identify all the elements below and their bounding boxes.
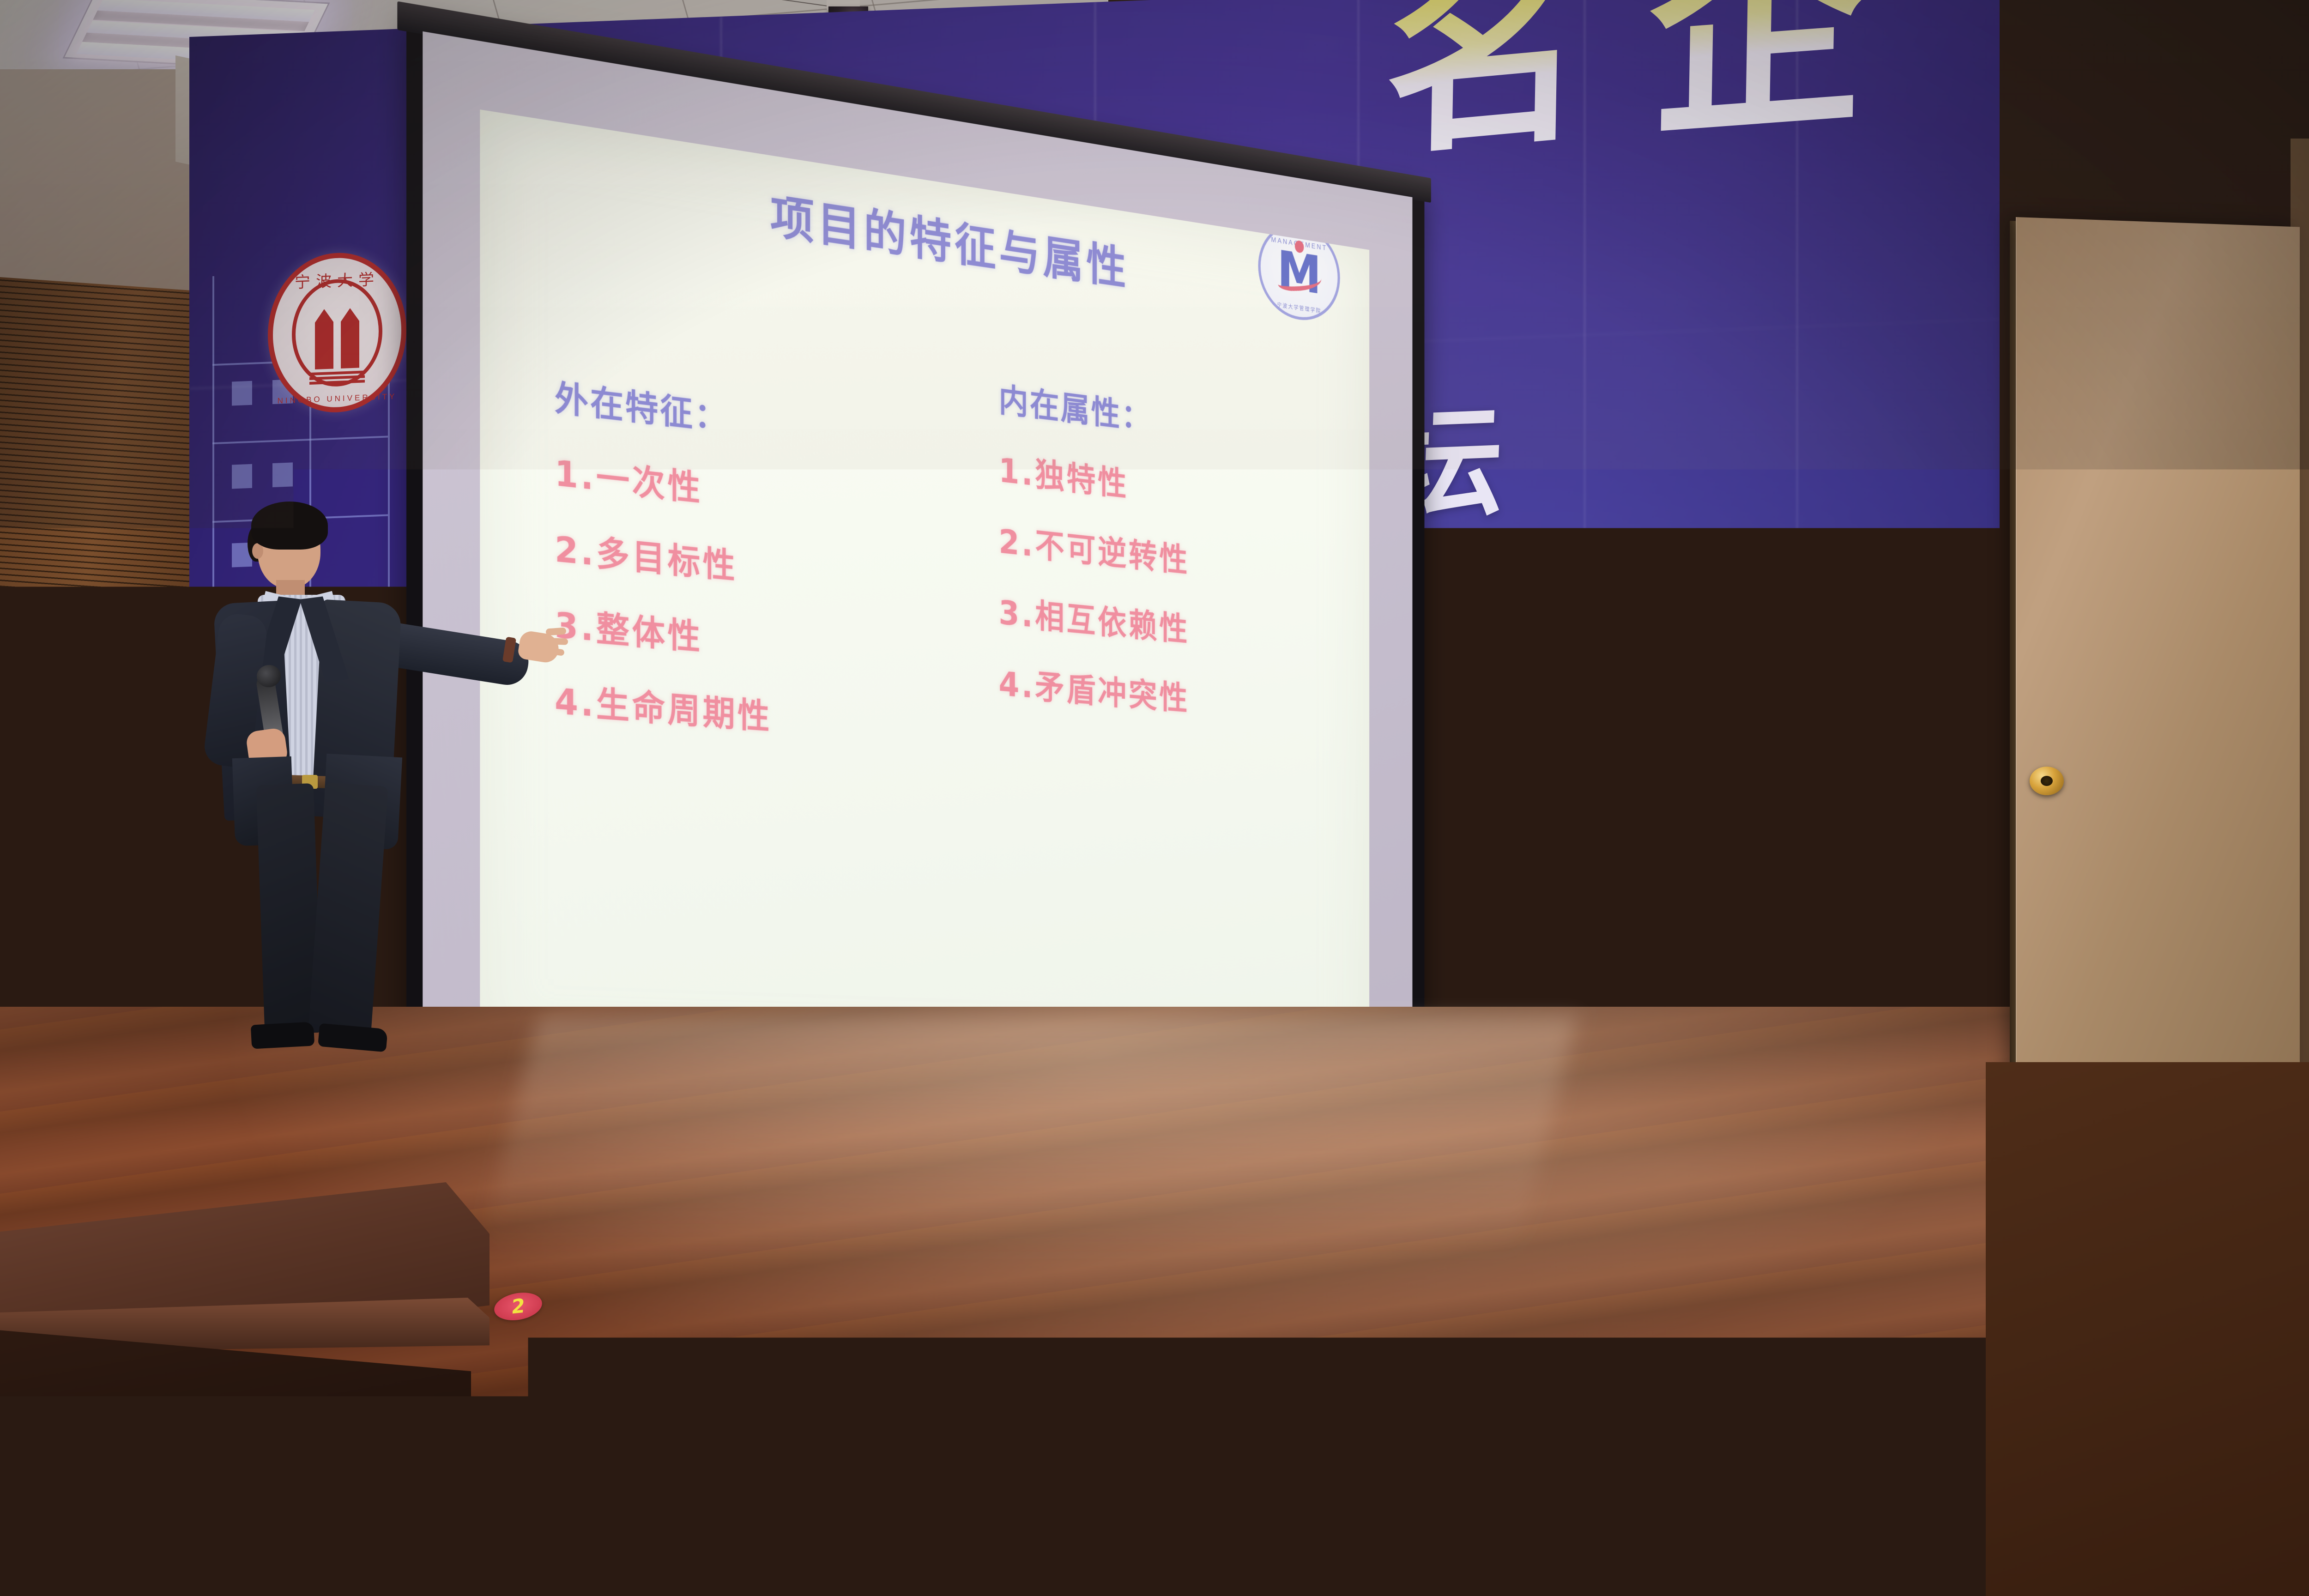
lectern-body	[0, 765, 50, 1046]
foreground-seat-block	[1616, 1533, 2309, 1596]
slide-column-external: 外在特征： 1.一次性 2.多目标性 3.整体性 4.生命周期性	[480, 306, 976, 778]
presenter	[203, 499, 554, 1076]
presenter-hair	[251, 502, 328, 550]
right-wall-lower	[1986, 1062, 2309, 1596]
presenter-shoe-right	[318, 1023, 388, 1052]
list-item: 4.矛盾冲突性	[999, 657, 1370, 734]
presenter-shoe-left	[251, 1022, 315, 1049]
presentation-slide: SCHOOL OF MANAGEMENT M 宁波大学管理学院 项目的特征与属性…	[480, 109, 1369, 1075]
floor-marker-number: 4	[862, 1377, 877, 1397]
speaker-lectern	[0, 707, 79, 1048]
door-knob-icon[interactable]	[2030, 767, 2064, 795]
screen-surface: SCHOOL OF MANAGEMENT M 宁波大学管理学院 项目的特征与属性…	[423, 31, 1412, 1136]
slide-columns: 外在特征： 1.一次性 2.多目标性 3.整体性 4.生命周期性 内在属性： 1…	[480, 306, 1369, 804]
banner-char-ming: 名	[1384, 0, 1586, 167]
floor-marker-number: 9	[1310, 1481, 1325, 1501]
presenter-leg-right	[308, 782, 388, 1035]
wall-light-switch[interactable]	[1499, 916, 1525, 971]
list-item: 2.多目标性	[555, 521, 976, 611]
foreground-desk	[0, 1182, 517, 1596]
list-item: 3.整体性	[555, 597, 976, 683]
desk-front-panel	[0, 1325, 471, 1596]
lecture-hall-scene: 宁波大学 NINGBO UNIVERSITY 名 企 坛	[0, 0, 2309, 1596]
slide-column-internal: 内在属性： 1.独特性 2.不可逆转性 3.相互依赖性 4.矛盾冲突性	[976, 370, 1369, 804]
meeting-room-door[interactable]	[2016, 217, 2300, 1113]
list-item: 4.生命周期性	[555, 673, 976, 754]
screen-reflection-on-floor	[478, 1016, 1577, 1256]
projection-screen: SCHOOL OF MANAGEMENT M 宁波大学管理学院 项目的特征与属性…	[406, 5, 1425, 1156]
banner-char-qi: 企	[1647, 0, 1868, 151]
list-item: 3.相互依赖性	[999, 586, 1370, 667]
list-item: 2.不可逆转性	[999, 515, 1370, 600]
